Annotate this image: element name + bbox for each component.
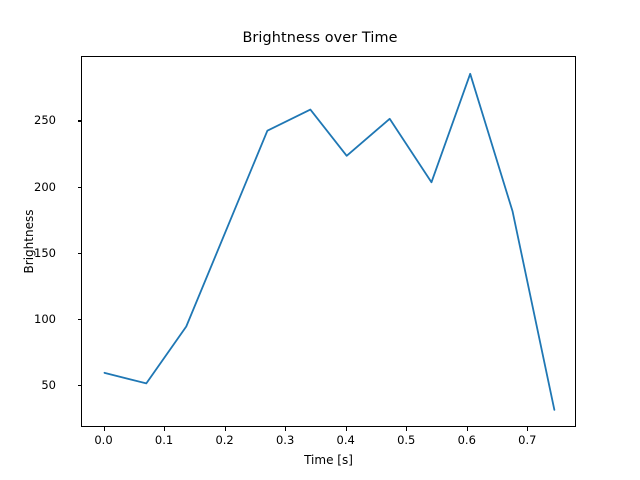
chart-title: Brightness over Time: [0, 30, 640, 46]
x-tick-mark: [346, 427, 347, 431]
y-tick-mark: [78, 187, 82, 188]
x-tick-label: 0.5: [397, 433, 415, 447]
y-axis-label: Brightness: [22, 56, 40, 427]
x-axis-label: Time [s]: [81, 453, 576, 467]
x-tick-label: 0.1: [155, 433, 173, 447]
x-tick-label: 0.4: [337, 433, 355, 447]
y-tick-mark: [78, 253, 82, 254]
x-tick-mark: [467, 427, 468, 431]
x-tick-label: 0.0: [94, 433, 112, 447]
x-tick-mark: [164, 427, 165, 431]
y-tick-mark: [78, 385, 82, 386]
x-tick-mark: [104, 427, 105, 431]
x-tick-label: 0.7: [518, 433, 536, 447]
line-chart-svg: [82, 57, 577, 428]
y-tick-label: 50: [41, 378, 56, 392]
y-tick-mark: [78, 319, 82, 320]
x-tick-mark: [406, 427, 407, 431]
x-tick-label: 0.3: [276, 433, 294, 447]
y-tick-mark: [78, 120, 82, 121]
x-tick-mark: [285, 427, 286, 431]
brightness-series-line: [105, 74, 555, 410]
x-tick-mark: [527, 427, 528, 431]
figure-canvas: Brightness over Time 0.00.10.20.30.40.50…: [0, 0, 640, 480]
x-tick-label: 0.2: [215, 433, 233, 447]
x-tick-label: 0.6: [458, 433, 476, 447]
x-tick-mark: [225, 427, 226, 431]
plot-area: [81, 56, 576, 427]
